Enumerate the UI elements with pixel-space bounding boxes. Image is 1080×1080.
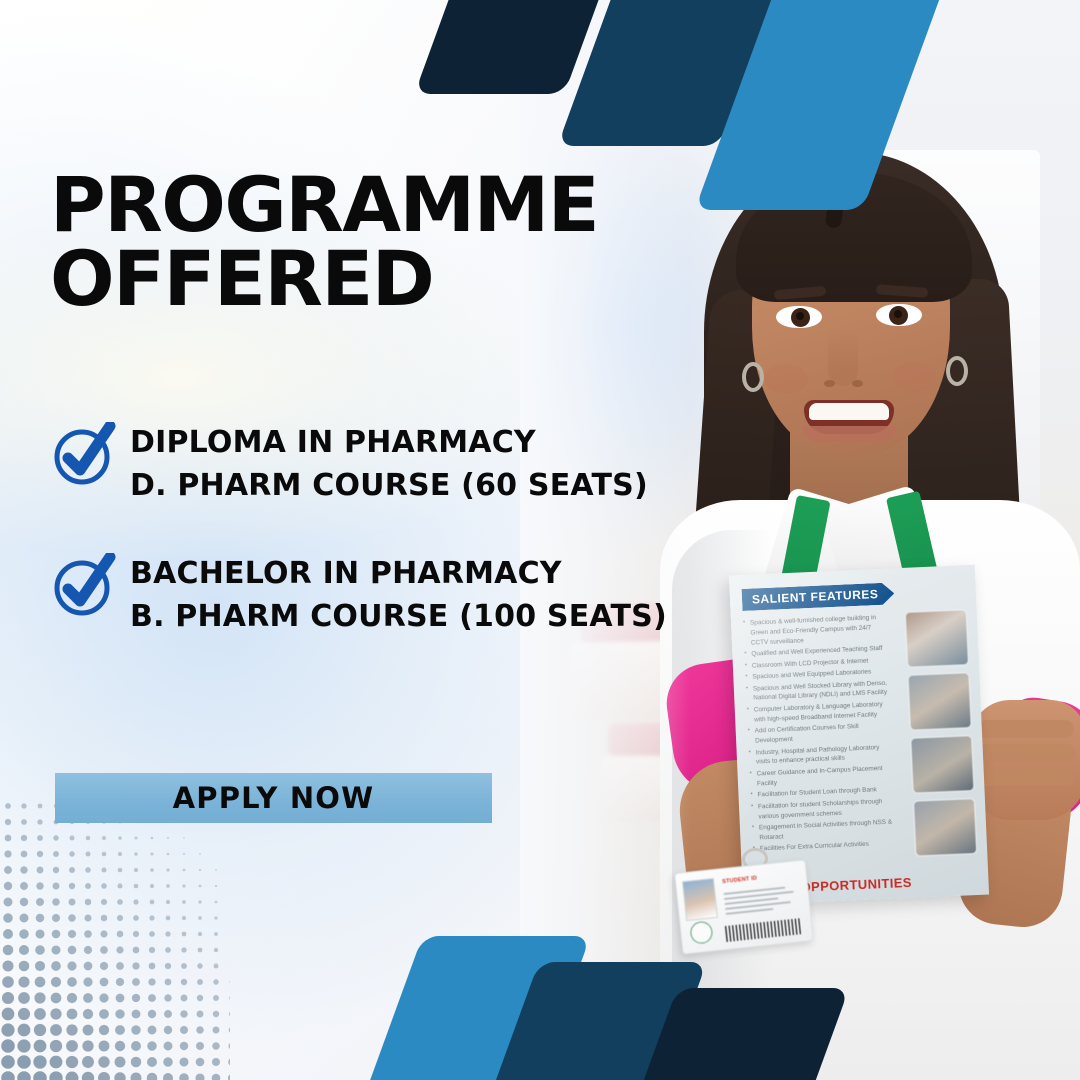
page-title-line2: OFFERED (50, 242, 598, 316)
nose (828, 328, 858, 386)
poster-canvas: OF PHARMACY SURBHI COLLEGE SALIENT FEATU… (0, 0, 1080, 1080)
nostril-right (852, 380, 863, 387)
finger (978, 720, 1074, 738)
programme-name: BACHELOR IN PHARMACY (130, 553, 667, 596)
teeth (809, 403, 889, 420)
lower-lip (802, 426, 896, 442)
programme-detail: D. PHARM COURSE (60 SEATS) (130, 465, 648, 508)
brochure-thumbnail (910, 735, 974, 794)
earring-right (946, 356, 968, 386)
programme-item-text: DIPLOMA IN PHARMACY D. PHARM COURSE (60 … (130, 418, 648, 507)
finger (976, 744, 1076, 762)
eye-right (876, 304, 922, 326)
programme-item-diploma: DIPLOMA IN PHARMACY D. PHARM COURSE (60 … (52, 418, 752, 507)
programme-item-text: BACHELOR IN PHARMACY B. PHARM COURSE (10… (130, 549, 667, 638)
page-title: PROGRAMME OFFERED (50, 168, 598, 317)
brochure-thumbnail (913, 798, 977, 857)
eye-left (776, 306, 822, 328)
content-layer: PROGRAMME OFFERED DIPLOMA IN PHARMACY D.… (0, 0, 780, 1080)
programme-name: DIPLOMA IN PHARMACY (130, 422, 648, 465)
check-circle-icon (52, 422, 118, 486)
programme-list: DIPLOMA IN PHARMACY D. PHARM COURSE (60 … (52, 418, 752, 680)
brochure-thumbnail (905, 609, 969, 668)
brochure-footer-text: OPPORTUNITIES (800, 875, 912, 895)
finger (978, 768, 1074, 786)
programme-detail: B. PHARM COURSE (100 SEATS) (130, 596, 667, 639)
brochure-thumbnail (907, 672, 971, 731)
cheek-right (892, 362, 936, 392)
programme-item-bachelor: BACHELOR IN PHARMACY B. PHARM COURSE (10… (52, 549, 752, 638)
nostril-left (824, 380, 835, 387)
pupil (796, 312, 804, 320)
check-circle-icon (52, 553, 118, 617)
pupil (894, 310, 902, 318)
brochure-thumbnails (905, 609, 978, 856)
apply-now-button[interactable]: APPLY NOW (55, 773, 492, 823)
apply-now-label: APPLY NOW (173, 781, 375, 815)
